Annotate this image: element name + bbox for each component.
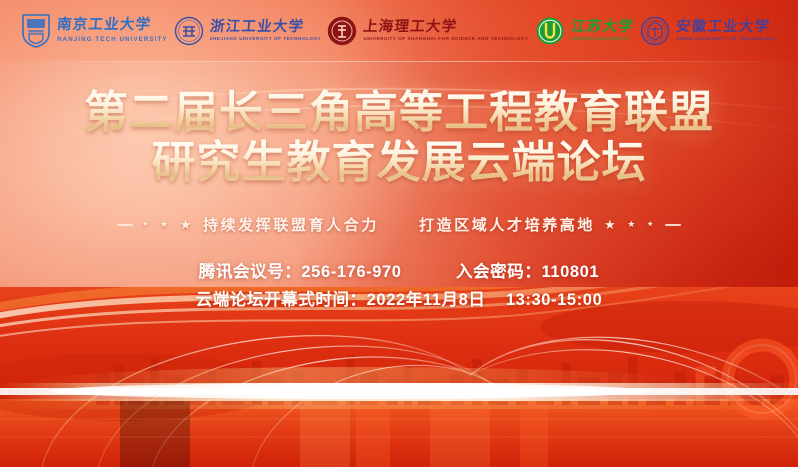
poster-content: 第二届长三角高等工程教育联盟 研究生教育发展云端论坛 ★ ★ ★ 持续发挥联盟育… [0,0,798,467]
subtitle-star-left-small: ★ [142,221,151,228]
opening-time-label: 云端论坛开幕式时间： [196,291,367,309]
opening-time-row: 云端论坛开幕式时间：2022年11月8日 13:30-15:00 [0,286,798,310]
subtitle-phrase-right: 打造区域人才培养高地 [419,214,595,235]
meeting-password-label: 入会密码： [456,263,542,281]
subtitle-star-left-large: ★ [180,218,194,231]
subtitle-phrase-left: 持续发挥联盟育人合力 [203,214,379,235]
subtitle-star-left-medium: ★ [160,220,171,229]
subtitle-star-right-large: ★ [604,218,618,231]
title-line-2: 研究生教育发展云端论坛 [0,138,798,188]
meeting-password-value: 110801 [541,263,599,281]
poster-title: 第二届长三角高等工程教育联盟 研究生教育发展云端论坛 [0,88,798,187]
conference-banner-poster: 南京工业大学 NANJING TECH UNIVERSITY 浙江工业大学 ZH… [0,0,798,467]
meeting-number-label: 腾讯会议号： [199,263,302,281]
subtitle-dash-right [665,224,681,226]
subtitle-dash-left [117,224,133,226]
opening-time-date: 2022年11月8日 [367,291,486,309]
meeting-number-value: 256-176-970 [301,263,401,281]
poster-subtitle: ★ ★ ★ 持续发挥联盟育人合力 打造区域人才培养高地 ★ ★ ★ [0,214,798,235]
title-line-1: 第二届长三角高等工程教育联盟 [0,88,798,138]
subtitle-star-right-medium: ★ [627,220,638,229]
meeting-info-row: 腾讯会议号：256-176-970 入会密码：110801 [0,258,798,282]
subtitle-star-right-small: ★ [647,221,656,228]
opening-time-range: 13:30-15:00 [506,291,603,309]
